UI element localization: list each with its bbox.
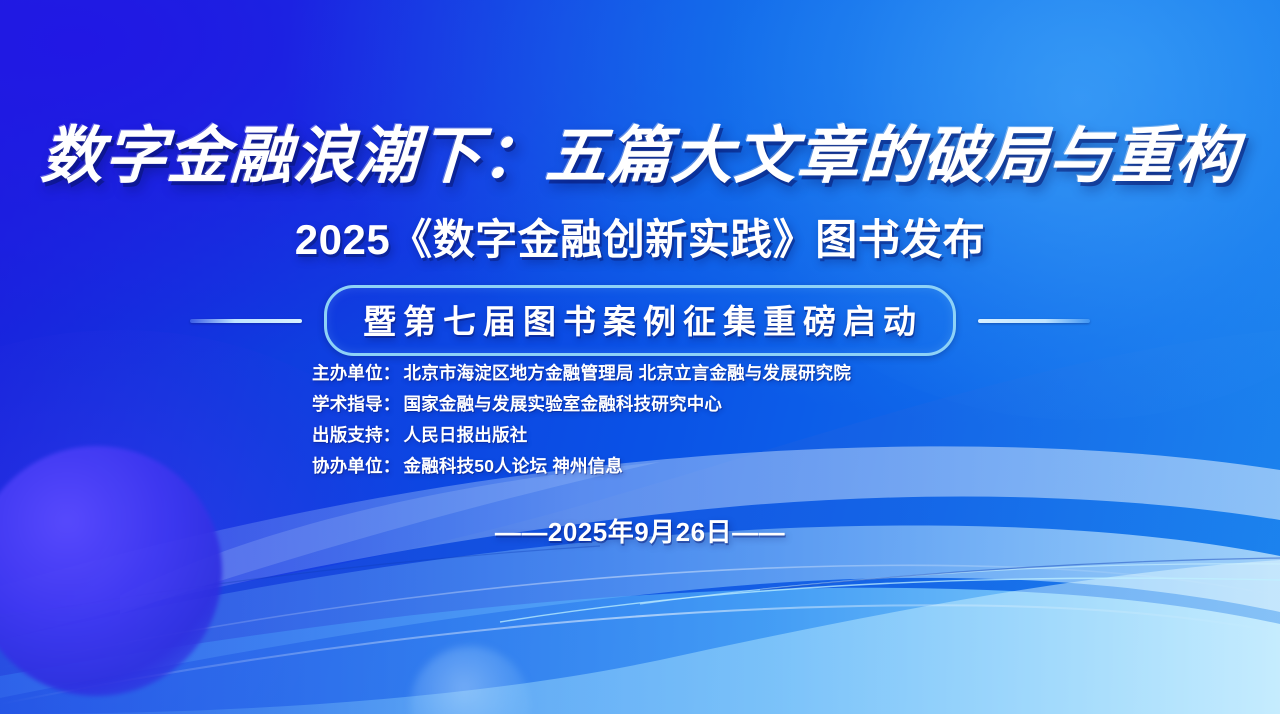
status-badge: 暨第七届图书案例征集重磅启动 — [324, 285, 956, 356]
organizer-row: 协办单位：金融科技50人论坛 神州信息 — [312, 453, 851, 480]
divider-line-left — [190, 319, 302, 323]
organizer-info-block: 主办单位：北京市海淀区地方金融管理局 北京立言金融与发展研究院 学术指导：国家金… — [312, 360, 851, 480]
organizer-row: 主办单位：北京市海淀区地方金融管理局 北京立言金融与发展研究院 — [312, 360, 851, 387]
divider-line-right — [978, 319, 1090, 323]
organizer-value: 人民日报出版社 — [404, 425, 528, 445]
organizer-value: 金融科技50人论坛 神州信息 — [404, 456, 624, 476]
badge-label: 暨第七届图书案例征集重磅启动 — [357, 295, 923, 343]
date-row: ——2025年9月26日—— — [0, 512, 1280, 549]
organizer-row: 出版支持：人民日报出版社 — [312, 422, 851, 449]
organizer-value: 北京市海淀区地方金融管理局 北京立言金融与发展研究院 — [404, 363, 852, 383]
page-title: 数字金融浪潮下：五篇大文章的破局与重构 — [0, 105, 1280, 195]
organizer-value: 国家金融与发展实验室金融科技研究中心 — [404, 394, 723, 414]
badge-row: 暨第七届图书案例征集重磅启动 — [0, 285, 1280, 356]
subtitle: 2025《数字金融创新实践》图书发布 — [0, 206, 1280, 267]
event-date: ——2025年9月26日—— — [495, 512, 785, 549]
organizer-label: 学术指导： — [312, 394, 401, 414]
organizer-label: 主办单位： — [312, 363, 401, 383]
organizer-label: 出版支持： — [312, 425, 401, 445]
organizer-row: 学术指导：国家金融与发展实验室金融科技研究中心 — [312, 391, 851, 418]
organizer-label: 协办单位： — [312, 456, 401, 476]
event-poster: 数字金融浪潮下：五篇大文章的破局与重构 2025《数字金融创新实践》图书发布 暨… — [0, 0, 1280, 714]
